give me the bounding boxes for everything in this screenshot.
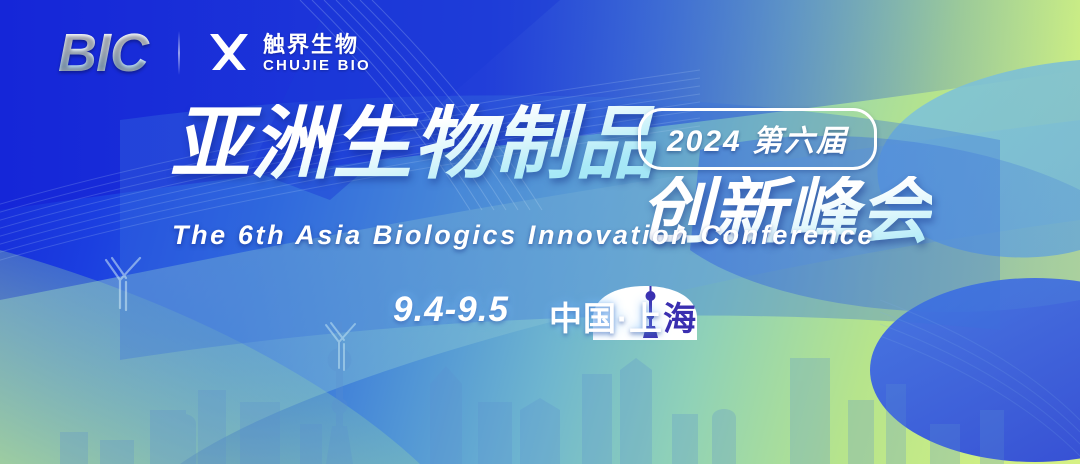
title-line-1: 亚洲生物制品 [170,104,656,184]
antibody-y-shape-icon [318,320,362,372]
subtitle-english: The 6th Asia Biologics Innovation Confer… [172,220,875,251]
partner-logo-text: 触界生物 CHUJIE BIO [263,34,371,73]
logo-divider [178,31,180,75]
antibody-y-shape-icon [96,254,148,314]
meta-row: 9.4-9.5 中国·上海 [393,281,697,337]
bic-logo[interactable]: BIC [58,26,152,80]
logo-row: BIC 触界生物 CHUJIE BIO [58,26,371,80]
location-suffix: 海 [663,300,697,337]
partner-name-en: CHUJIE BIO [263,58,371,73]
edition-badge: 2024 第六届 [638,108,877,170]
chujie-x-mark-icon [206,30,252,76]
conference-banner: BIC 触界生物 CHUJIE BIO 亚洲生物制品 2024 [0,0,1080,464]
location-prefix: 中国·上 [549,300,663,337]
partner-name-cn: 触界生物 [263,34,371,56]
location-label: 中国·上海 [549,302,697,337]
partner-logo[interactable]: 触界生物 CHUJIE BIO [206,30,371,76]
event-date: 9.4-9.5 [393,292,509,327]
event-location: 中国·上海 [549,281,697,337]
